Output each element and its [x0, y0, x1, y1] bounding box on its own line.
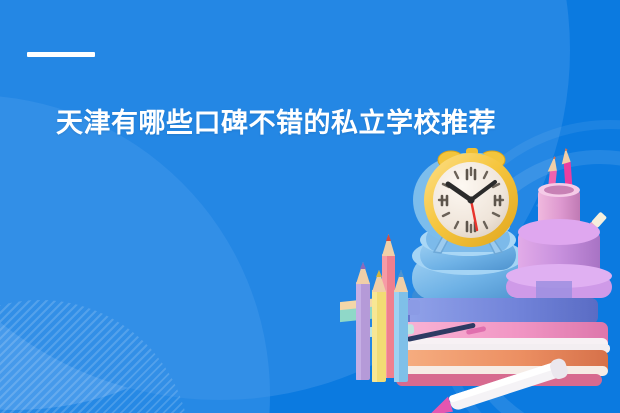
page-title: 天津有哪些口碑不错的私立学校推荐 — [56, 108, 496, 139]
background-wedge-left — [0, 95, 270, 413]
background-striped-disc — [0, 300, 190, 413]
book-blue — [398, 298, 598, 324]
promo-banner: 天津有哪些口碑不错的私立学校推荐 — [0, 0, 620, 413]
pencil-yellow — [372, 270, 386, 382]
study-desk-illustration — [340, 148, 620, 413]
pencil-cup-group — [506, 148, 612, 298]
accent-rule — [27, 52, 95, 57]
background-circle-pale — [0, 0, 320, 410]
pencil-purple — [356, 262, 370, 380]
pencil-blue — [394, 270, 408, 382]
book-orange — [388, 350, 608, 376]
cup-base-band — [536, 281, 572, 298]
